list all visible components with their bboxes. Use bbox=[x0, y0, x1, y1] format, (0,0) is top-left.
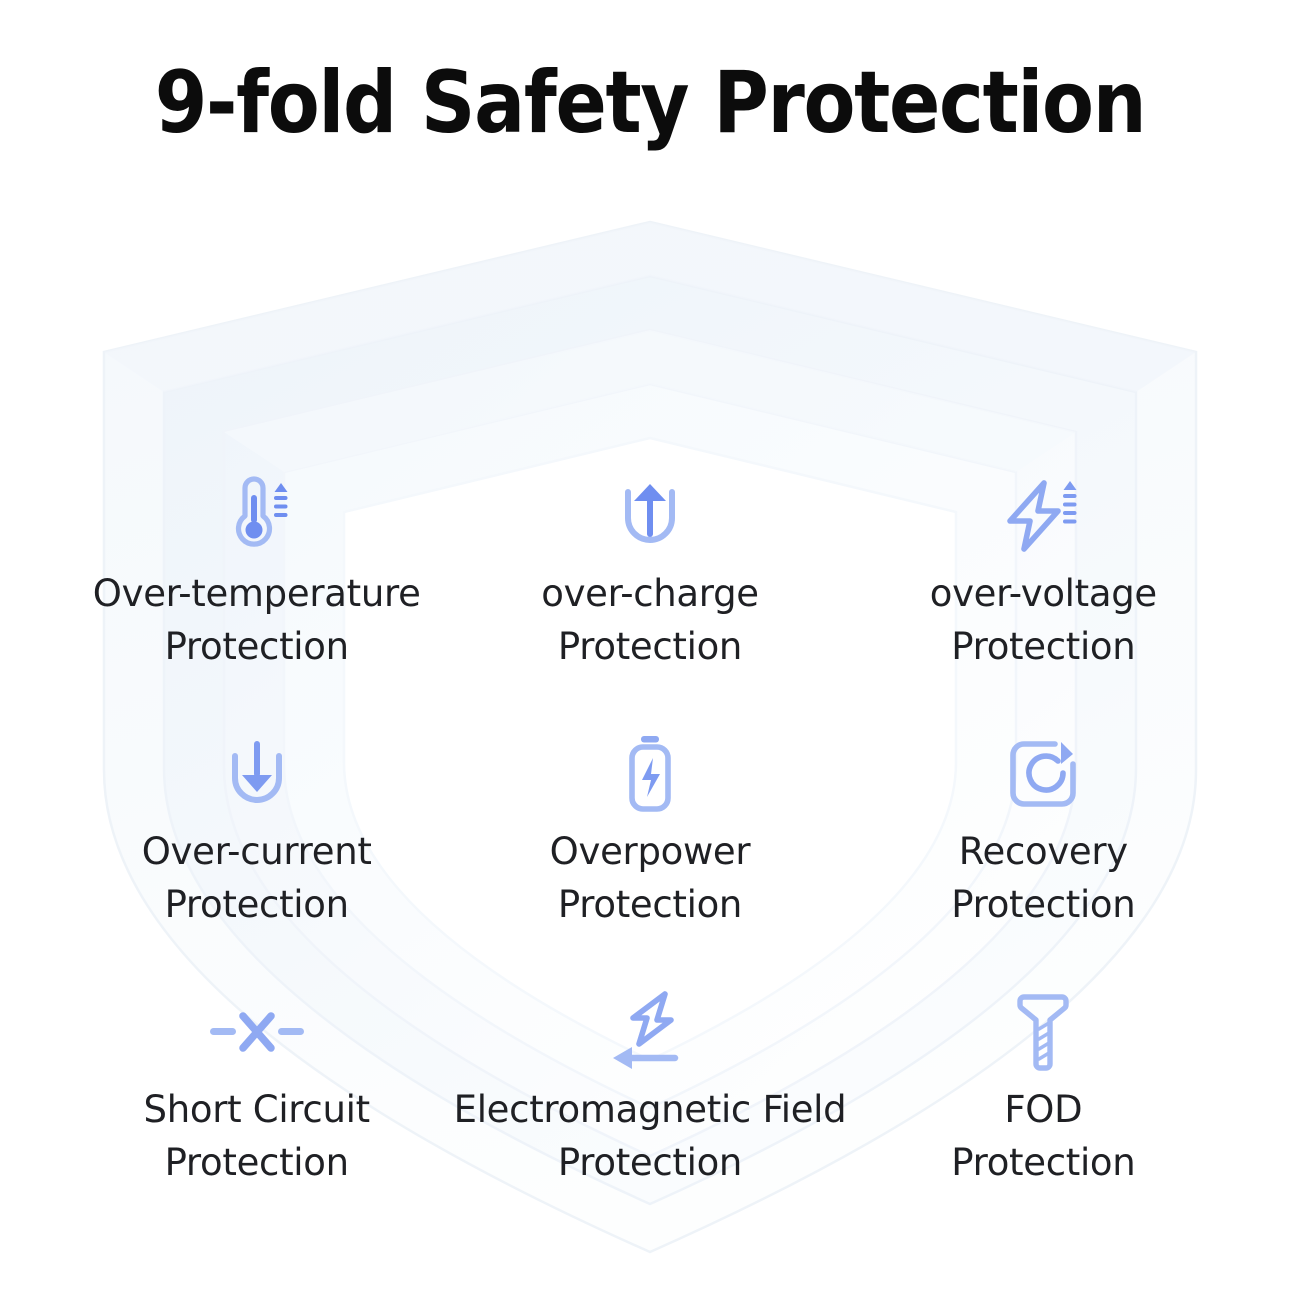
broken-wire-x-icon bbox=[208, 986, 306, 1078]
feature-label: Over-temperature Protection bbox=[93, 568, 421, 673]
protection-feature-grid: Over-temperature Protection over-charge … bbox=[60, 470, 1240, 1244]
feature-item-over-temperature: Over-temperature Protection bbox=[60, 470, 453, 728]
feature-item-electromagnetic-field: Electromagnetic Field Protection bbox=[453, 986, 846, 1244]
feature-item-over-voltage: over-voltage Protection bbox=[847, 470, 1240, 728]
arrow-up-in-u-icon bbox=[615, 470, 685, 562]
feature-label: FOD Protection bbox=[951, 1084, 1135, 1189]
refresh-square-icon bbox=[1003, 728, 1083, 820]
feature-label: Recovery Protection bbox=[951, 826, 1135, 931]
lightning-level-icon bbox=[1000, 470, 1086, 562]
bolt-arrow-left-icon bbox=[605, 986, 695, 1078]
feature-label: Overpower Protection bbox=[550, 826, 751, 931]
battery-bolt-icon bbox=[619, 728, 681, 820]
feature-item-fod: FOD Protection bbox=[847, 986, 1240, 1244]
safety-protection-infographic: 9-fold Safety Protection Over-temperatur… bbox=[0, 0, 1300, 1300]
page-title: 9-fold Safety Protection bbox=[78, 56, 1222, 151]
feature-item-short-circuit: Short Circuit Protection bbox=[60, 986, 453, 1244]
arrow-down-in-u-icon bbox=[222, 728, 292, 820]
screw-icon bbox=[1012, 986, 1074, 1078]
feature-item-over-current: Over-current Protection bbox=[60, 728, 453, 986]
feature-label: over-voltage Protection bbox=[930, 568, 1157, 673]
feature-label: over-charge Protection bbox=[541, 568, 758, 673]
feature-label: Over-current Protection bbox=[142, 826, 372, 931]
feature-item-over-charge: over-charge Protection bbox=[453, 470, 846, 728]
feature-item-overpower: Overpower Protection bbox=[453, 728, 846, 986]
thermometer-level-icon bbox=[218, 470, 296, 562]
feature-label: Short Circuit Protection bbox=[144, 1084, 370, 1189]
feature-label: Electromagnetic Field Protection bbox=[454, 1084, 847, 1189]
feature-item-recovery: Recovery Protection bbox=[847, 728, 1240, 986]
